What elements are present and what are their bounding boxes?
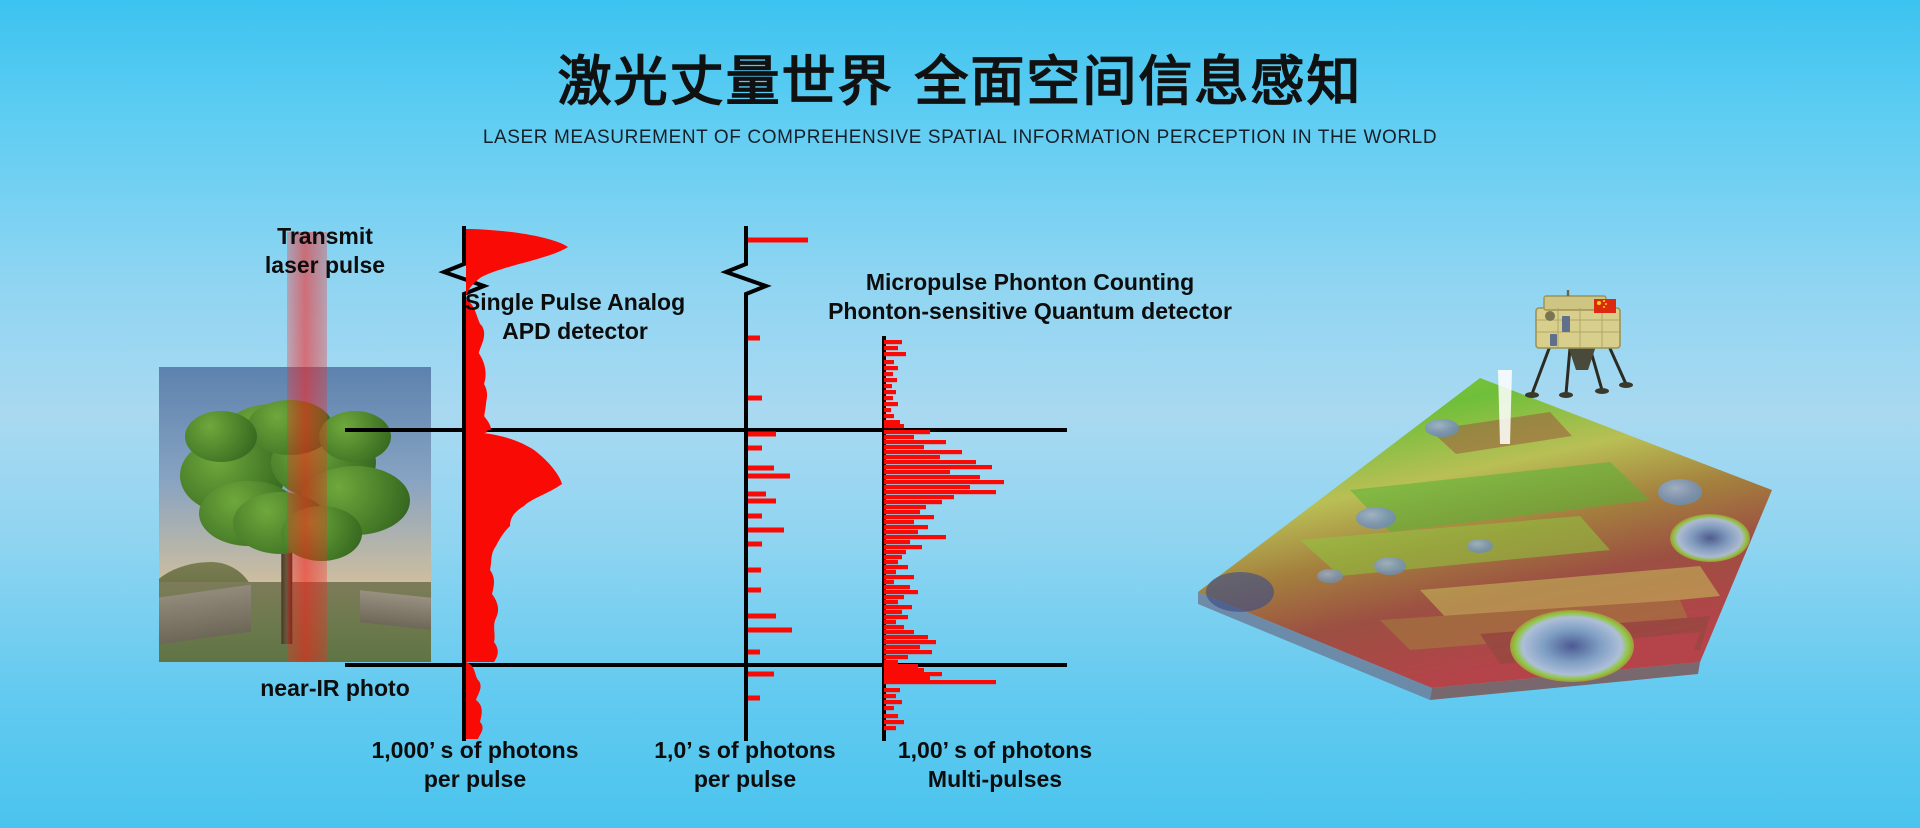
histogram-bar bbox=[884, 414, 894, 418]
histogram-bar bbox=[884, 590, 918, 594]
caption-single-photon: 1,0’ s of photons per pulse bbox=[620, 736, 870, 795]
histogram-bar bbox=[884, 540, 910, 544]
label-apd-detector: Single Pulse Analog APD detector bbox=[400, 288, 750, 346]
3d-elevation-terrain-model bbox=[1180, 370, 1780, 730]
china-flag bbox=[1594, 299, 1616, 313]
histogram-bar bbox=[884, 445, 924, 449]
canopy-ground-return bbox=[466, 432, 562, 662]
histogram-bar bbox=[884, 630, 914, 634]
histogram-bar bbox=[884, 650, 932, 654]
histogram-bar bbox=[884, 408, 891, 412]
histogram-bar bbox=[884, 706, 894, 710]
histogram-bar bbox=[884, 535, 946, 539]
histogram-bar bbox=[884, 475, 980, 479]
mound-3 bbox=[1374, 557, 1406, 575]
histogram-bar bbox=[884, 510, 920, 514]
histogram-bar bbox=[884, 384, 892, 388]
histogram-bar bbox=[884, 390, 896, 394]
histogram-bar bbox=[884, 694, 896, 698]
histogram-bar bbox=[884, 378, 897, 382]
histogram-bar bbox=[884, 714, 898, 718]
histogram-bar bbox=[884, 346, 898, 350]
lidar-terrain-scene bbox=[1180, 300, 1780, 730]
lander-footpads bbox=[1525, 382, 1633, 398]
histogram-bar bbox=[884, 465, 992, 469]
histogram-bar bbox=[884, 420, 900, 424]
histogram-bar bbox=[884, 645, 920, 649]
histogram-bar bbox=[884, 635, 928, 639]
label-near-ir-photo: near-IR photo bbox=[215, 674, 455, 703]
label-micropulse-detector: Micropulse Phonton Counting Phonton-sens… bbox=[820, 268, 1240, 326]
histogram-bar bbox=[884, 490, 996, 494]
laser-beam bbox=[287, 232, 327, 662]
histogram-bar bbox=[884, 545, 922, 549]
histogram-bar bbox=[884, 450, 962, 454]
histogram-bar bbox=[884, 520, 914, 524]
crater-mid-right bbox=[1670, 514, 1750, 562]
histogram-bar bbox=[884, 440, 946, 444]
histogram-bar bbox=[884, 640, 936, 644]
histogram-bar bbox=[884, 340, 902, 344]
mound-4 bbox=[1467, 539, 1493, 553]
histogram-bar bbox=[884, 625, 904, 629]
histogram-bar bbox=[884, 560, 898, 564]
histogram-bar bbox=[884, 700, 902, 704]
histogram-bar bbox=[884, 676, 930, 680]
histogram-bar bbox=[884, 595, 904, 599]
histogram-bar bbox=[884, 672, 942, 676]
mound-5 bbox=[1317, 569, 1343, 583]
terrain-dark-corner bbox=[1206, 572, 1274, 612]
sub-ground-return bbox=[466, 662, 483, 739]
histogram-bar bbox=[884, 455, 940, 459]
histogram-bar bbox=[884, 530, 918, 534]
histogram-bar bbox=[884, 366, 898, 370]
histogram-bar bbox=[884, 505, 926, 509]
histogram-bar bbox=[884, 720, 904, 724]
mound-2 bbox=[1425, 419, 1459, 437]
histogram-bar bbox=[884, 360, 894, 364]
histogram-bar bbox=[884, 402, 898, 406]
histogram-bar bbox=[884, 668, 924, 672]
histogram-bar bbox=[884, 424, 904, 428]
crater-small-right bbox=[1658, 479, 1702, 505]
histogram-bar bbox=[884, 396, 893, 400]
histogram-bar bbox=[884, 550, 906, 554]
histogram-bar bbox=[884, 435, 914, 439]
histogram-bar bbox=[884, 525, 928, 529]
histogram-bar bbox=[884, 580, 894, 584]
lander-instrument-1 bbox=[1562, 316, 1570, 332]
histogram-bar bbox=[884, 495, 954, 499]
label-transmit-laser-pulse: Transmit laser pulse bbox=[225, 222, 425, 280]
lunar-lander bbox=[1510, 290, 1640, 410]
micropulse-histogram-plot bbox=[828, 336, 1058, 741]
caption-multi-pulse: 1,00’ s of photons Multi-pulses bbox=[860, 736, 1130, 795]
histogram-bar bbox=[884, 515, 934, 519]
histogram-bar bbox=[884, 655, 908, 659]
histogram-bar bbox=[884, 680, 996, 684]
lander-instrument-2 bbox=[1550, 334, 1557, 346]
histogram-bar bbox=[884, 555, 902, 559]
histogram-bar bbox=[884, 352, 906, 356]
histogram-bar bbox=[884, 470, 950, 474]
histogram-bar bbox=[884, 600, 898, 604]
histogram-bar bbox=[884, 605, 912, 609]
diagram-stage: Transmit laser pulse Single Pulse Analog… bbox=[0, 0, 1920, 828]
histogram-bar bbox=[884, 615, 908, 619]
histogram-bar bbox=[884, 620, 896, 624]
histogram-bar bbox=[884, 570, 896, 574]
histogram-bar bbox=[884, 575, 914, 579]
histogram-bar bbox=[884, 726, 896, 730]
histogram-bar bbox=[884, 430, 930, 434]
histogram-bar bbox=[884, 664, 918, 668]
mound-1 bbox=[1356, 507, 1396, 529]
crater-large bbox=[1510, 610, 1634, 682]
lander-antenna-dish bbox=[1545, 311, 1555, 321]
histogram-bar bbox=[884, 372, 893, 376]
histogram-bar bbox=[884, 500, 942, 504]
histogram-bar bbox=[884, 480, 1004, 484]
histogram-bar bbox=[884, 585, 910, 589]
lander-engine-nozzle bbox=[1568, 346, 1596, 370]
photon-bars bbox=[748, 240, 808, 698]
histogram-bar bbox=[884, 485, 970, 489]
caption-analog-photons: 1,000’ s of photons per pulse bbox=[335, 736, 615, 795]
histogram-bar bbox=[884, 660, 898, 664]
histogram-bar bbox=[884, 565, 908, 569]
histogram-bar bbox=[884, 610, 902, 614]
histogram-bars bbox=[884, 340, 1004, 730]
histogram-bar bbox=[884, 688, 900, 692]
histogram-bar bbox=[884, 460, 976, 464]
